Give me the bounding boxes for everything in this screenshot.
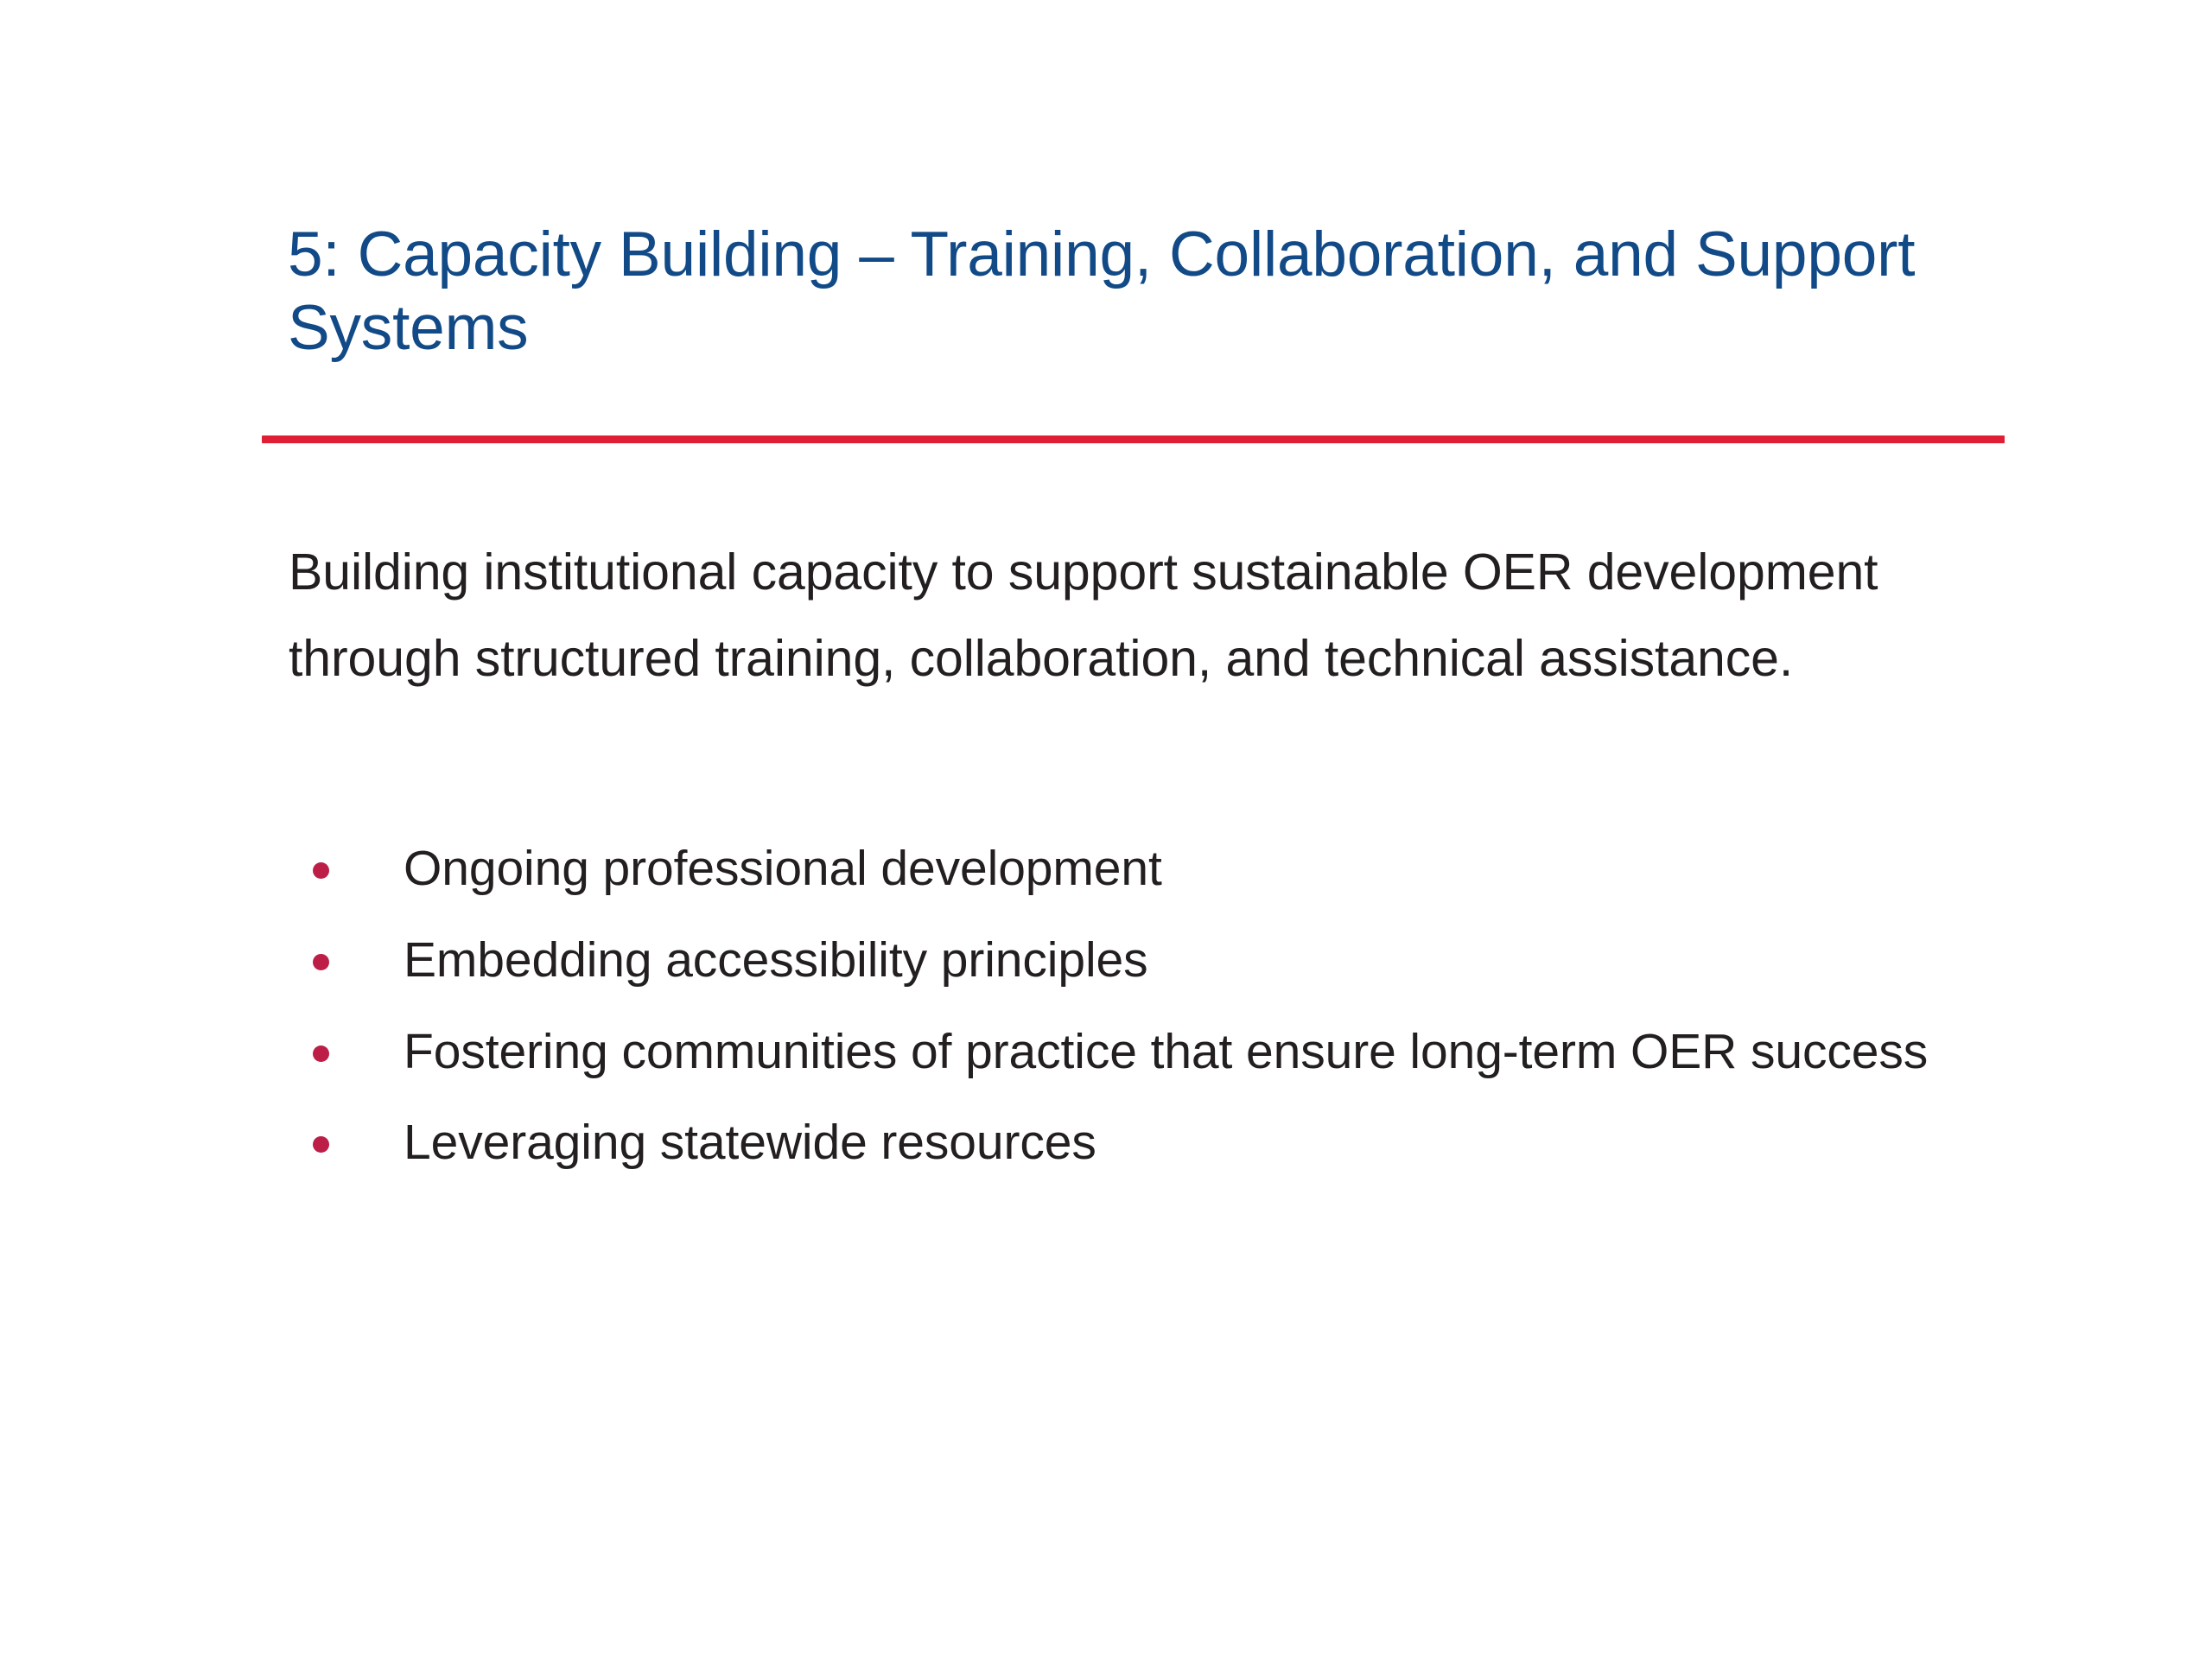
- list-item: Leveraging statewide resources: [289, 1102, 1974, 1185]
- bullet-dot-icon: [313, 862, 329, 879]
- list-item-label: Embedding accessibility principles: [404, 919, 1974, 1002]
- page-title: 5: Capacity Building – Training, Collabo…: [288, 218, 2016, 365]
- intro-paragraph: Building institutional capacity to suppo…: [289, 529, 1956, 702]
- list-item: Embedding accessibility principles: [289, 919, 1974, 1002]
- list-item: Ongoing professional development: [289, 828, 1974, 911]
- list-item-label: Ongoing professional development: [404, 828, 1974, 911]
- list-item-label: Leveraging statewide resources: [404, 1102, 1974, 1185]
- bullet-list: Ongoing professional development Embeddi…: [289, 828, 1974, 1185]
- list-item: Fostering communities of practice that e…: [289, 1011, 1974, 1094]
- bullet-dot-icon: [313, 1136, 329, 1153]
- list-item-label: Fostering communities of practice that e…: [404, 1011, 1974, 1094]
- intro-block: Building institutional capacity to suppo…: [289, 529, 1956, 702]
- title-block: 5: Capacity Building – Training, Collabo…: [288, 218, 2016, 365]
- title-divider-rule: [262, 435, 2005, 443]
- bullet-dot-icon: [313, 1046, 329, 1062]
- bullet-dot-icon: [313, 954, 329, 970]
- slide-canvas: 5: Capacity Building – Training, Collabo…: [0, 0, 2212, 1659]
